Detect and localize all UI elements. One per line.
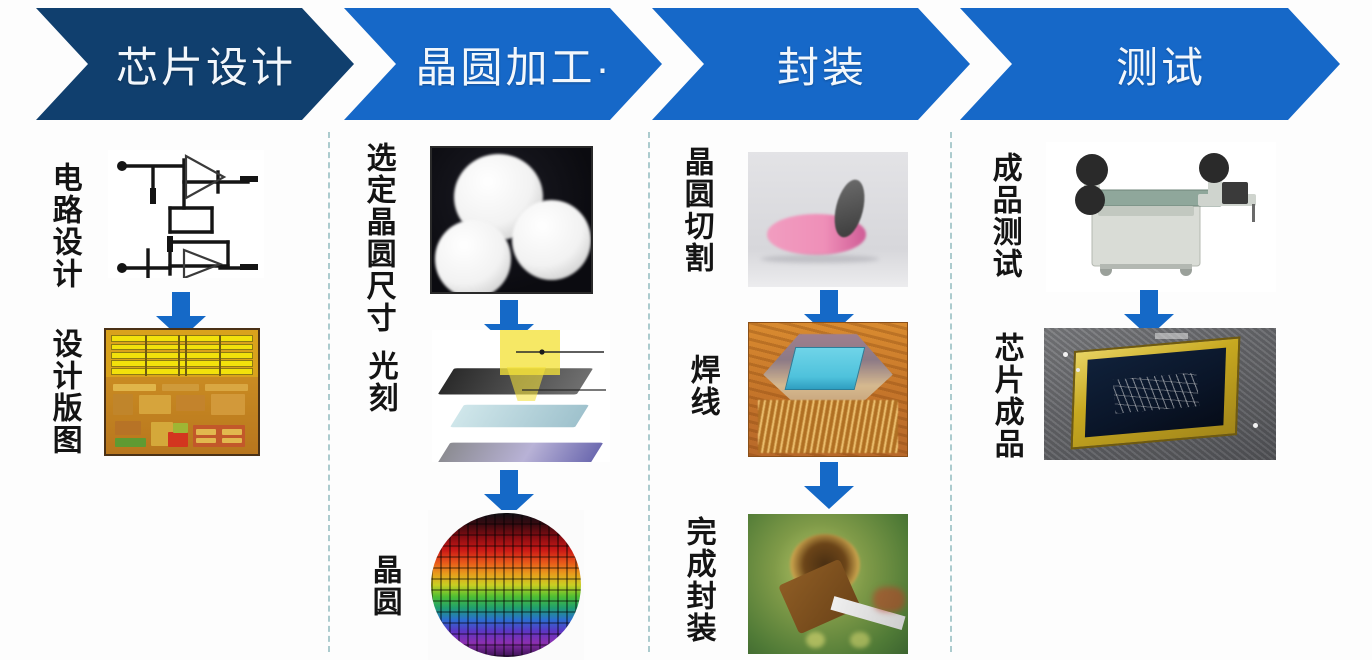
stage-chevron-wafer-fabrication[interactable]: 晶圆加工· bbox=[344, 8, 662, 120]
circuit-schematic-image bbox=[108, 150, 264, 278]
bond-wires bbox=[758, 400, 897, 453]
diagram-root: 芯片设计 晶圆加工· 封装 测试 电路设计 bbox=[0, 0, 1372, 660]
stage-chevron-testing[interactable]: 测试 bbox=[960, 8, 1340, 120]
step-label-finished-chip: 芯片成品 bbox=[990, 332, 1021, 460]
package-red-spot bbox=[873, 587, 905, 612]
layout-bottom-block bbox=[111, 380, 254, 451]
step-label-packaging-complete: 完成封装 bbox=[682, 516, 713, 644]
chip-dust-3 bbox=[1253, 423, 1258, 428]
litho-needle-lines bbox=[432, 330, 610, 462]
schematic-svg bbox=[108, 150, 264, 278]
stage-chevron-label: 封装 bbox=[755, 34, 867, 95]
column-testing: 成品测试 芯片成品 bbox=[950, 132, 1372, 660]
step-label-final-test: 成品测试 bbox=[988, 152, 1019, 280]
chip-die-markings bbox=[1112, 372, 1198, 413]
step-label-photolithography: 光刻 bbox=[364, 350, 395, 414]
rainbow-wafer-container bbox=[428, 510, 584, 660]
package-bokeh-1 bbox=[806, 632, 825, 649]
chip-top-text-mark bbox=[1155, 333, 1187, 338]
package-bokeh-2 bbox=[850, 632, 869, 649]
chip-dust-1 bbox=[1063, 352, 1068, 357]
process-stage-band: 芯片设计 晶圆加工· 封装 测试 bbox=[0, 0, 1372, 128]
tester-svg bbox=[1046, 142, 1276, 292]
step-label-design-layout: 设计版图 bbox=[48, 328, 79, 456]
photolithography-stack-image bbox=[432, 330, 610, 462]
flow-arrow-down bbox=[800, 462, 858, 510]
column-packaging: 晶圆切割 焊线 完成封装 bbox=[648, 132, 950, 660]
column-chip-design: 电路设计 bbox=[0, 132, 328, 660]
step-label-wafer: 晶圆 bbox=[368, 554, 399, 618]
step-label-wire-bonding: 焊线 bbox=[686, 354, 717, 418]
step-label-select-wafer-size: 选定晶圆尺寸 bbox=[362, 142, 393, 334]
stage-chevron-label: 测试 bbox=[1094, 34, 1206, 95]
finished-chip-image bbox=[1044, 328, 1276, 460]
bond-die bbox=[785, 347, 865, 390]
wire-bonding-image bbox=[748, 322, 908, 457]
dicing-shadow bbox=[761, 255, 879, 263]
layout-top-block bbox=[111, 335, 254, 376]
stage-chevron-packaging[interactable]: 封装 bbox=[652, 8, 970, 120]
test-equipment-image bbox=[1046, 142, 1276, 292]
blank-wafers-photo-image bbox=[430, 146, 593, 294]
finished-package-image bbox=[748, 514, 908, 654]
stage-chevron-chip-design[interactable]: 芯片设计 bbox=[36, 8, 354, 120]
stage-chevron-label: 芯片设计 bbox=[94, 34, 296, 95]
step-label-wafer-dicing: 晶圆切割 bbox=[680, 146, 711, 274]
die-layout-image bbox=[104, 328, 260, 456]
rainbow-wafer-image bbox=[431, 513, 581, 657]
wafer-dicing-image bbox=[748, 152, 908, 287]
step-label-circuit-design: 电路设计 bbox=[48, 162, 79, 290]
stage-chevron-label: 晶圆加工· bbox=[394, 34, 613, 95]
column-wafer-fabrication: 选定晶圆尺寸 光刻 bbox=[328, 132, 648, 660]
